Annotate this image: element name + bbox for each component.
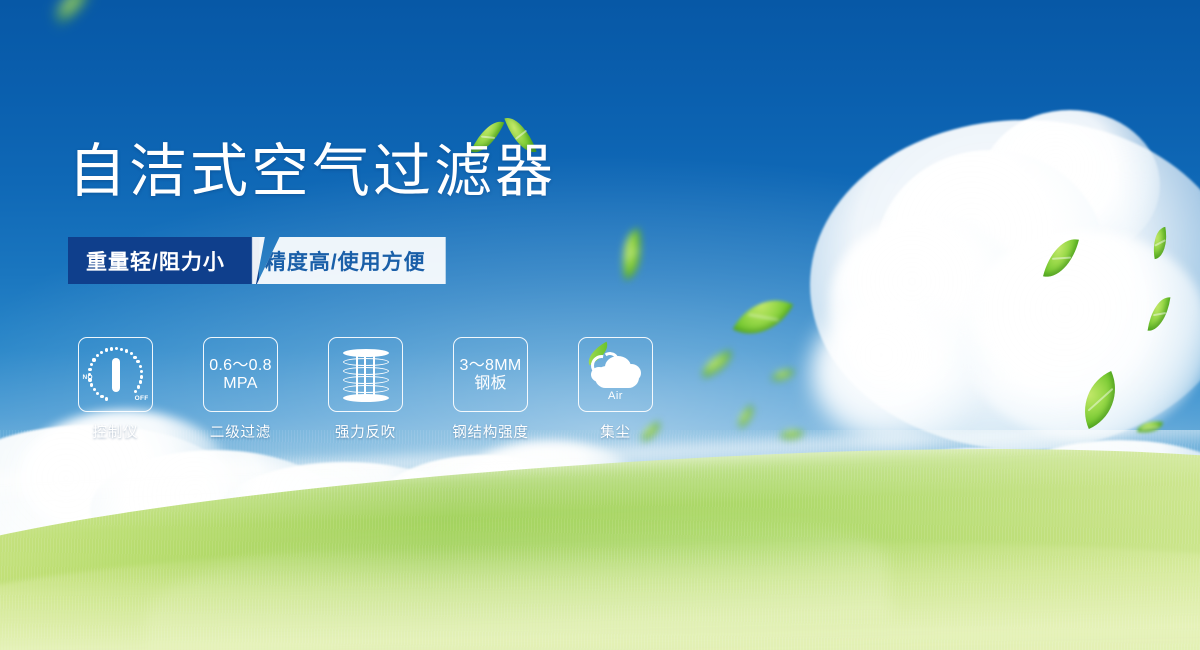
feature-caption: 强力反吹 bbox=[335, 421, 396, 442]
feature-item-blowback[interactable]: 强力反吹 bbox=[328, 337, 403, 442]
dial-tick bbox=[93, 388, 96, 391]
feature-box: Air bbox=[578, 337, 653, 412]
dial-tick bbox=[134, 390, 137, 393]
feature-caption: 钢结构强度 bbox=[452, 421, 529, 442]
dial-tick bbox=[139, 380, 142, 383]
feature-item-dust[interactable]: Air 集尘 bbox=[578, 337, 653, 442]
dial-tick bbox=[88, 368, 91, 371]
dial-tick bbox=[96, 354, 99, 357]
dial-tick bbox=[105, 397, 108, 400]
tagline-left: 重量轻/阻力小 bbox=[68, 237, 259, 284]
cloud-right-c bbox=[960, 230, 1200, 440]
feature-box: NO OFF bbox=[78, 337, 153, 412]
tagline-bar: 重量轻/阻力小 精度高/使用方便 bbox=[68, 237, 446, 284]
dial-tick bbox=[92, 358, 95, 361]
dial-tick bbox=[120, 348, 123, 351]
dial-tick bbox=[140, 375, 143, 378]
dial-pointer bbox=[112, 358, 120, 392]
dial-tick bbox=[115, 347, 118, 350]
feature-box: 0.6～0.8MPA bbox=[203, 337, 278, 412]
feature-list: NO OFF 控制仪 0.6～0.8MPA 二级过滤 bbox=[78, 337, 653, 442]
cloud-right-d bbox=[810, 300, 980, 445]
dial-label-off: OFF bbox=[135, 395, 149, 402]
feature-box: 3～8MM钢板 bbox=[453, 337, 528, 412]
dial-icon: NO OFF bbox=[85, 344, 147, 406]
air-cloud-icon: Air bbox=[587, 350, 645, 400]
feature-caption: 二级过滤 bbox=[210, 421, 271, 442]
dial-tick bbox=[90, 363, 93, 366]
dial-tick bbox=[96, 392, 99, 395]
dial-tick bbox=[100, 395, 103, 398]
air-label: Air bbox=[587, 390, 645, 402]
dial-tick bbox=[90, 383, 93, 386]
tagline-right: 精度高/使用方便 bbox=[257, 237, 446, 284]
feature-caption: 集尘 bbox=[600, 421, 631, 442]
steel-icon: 3～8MM钢板 bbox=[460, 357, 522, 393]
feature-item-filter[interactable]: 0.6～0.8MPA 二级过滤 bbox=[203, 337, 278, 442]
dial-tick bbox=[105, 348, 108, 351]
feature-caption: 控制仪 bbox=[93, 421, 139, 442]
blowback-icon bbox=[343, 349, 389, 401]
feature-item-steel[interactable]: 3～8MM钢板 钢结构强度 bbox=[453, 337, 528, 442]
dial-tick bbox=[125, 349, 128, 352]
product-banner: 自洁式空气过滤器 重量轻/阻力小 精度高/使用方便 NO OFF 控制仪 0.6… bbox=[0, 0, 1200, 650]
dial-tick bbox=[130, 352, 133, 355]
grass-field bbox=[0, 430, 1200, 650]
dial-label-no: NO bbox=[83, 374, 93, 381]
feature-item-control[interactable]: NO OFF 控制仪 bbox=[78, 337, 153, 442]
dial-tick bbox=[136, 360, 139, 363]
pressure-icon: 0.6～0.8MPA bbox=[209, 357, 272, 393]
feature-box bbox=[328, 337, 403, 412]
dial-tick bbox=[133, 356, 136, 359]
page-title: 自洁式空气过滤器 bbox=[68, 143, 556, 201]
grass-texture bbox=[0, 430, 1200, 650]
dial-tick bbox=[137, 385, 140, 388]
dial-tick bbox=[139, 365, 142, 368]
dial-tick bbox=[140, 370, 143, 373]
dial-tick bbox=[110, 347, 113, 350]
dial-tick bbox=[100, 351, 103, 354]
